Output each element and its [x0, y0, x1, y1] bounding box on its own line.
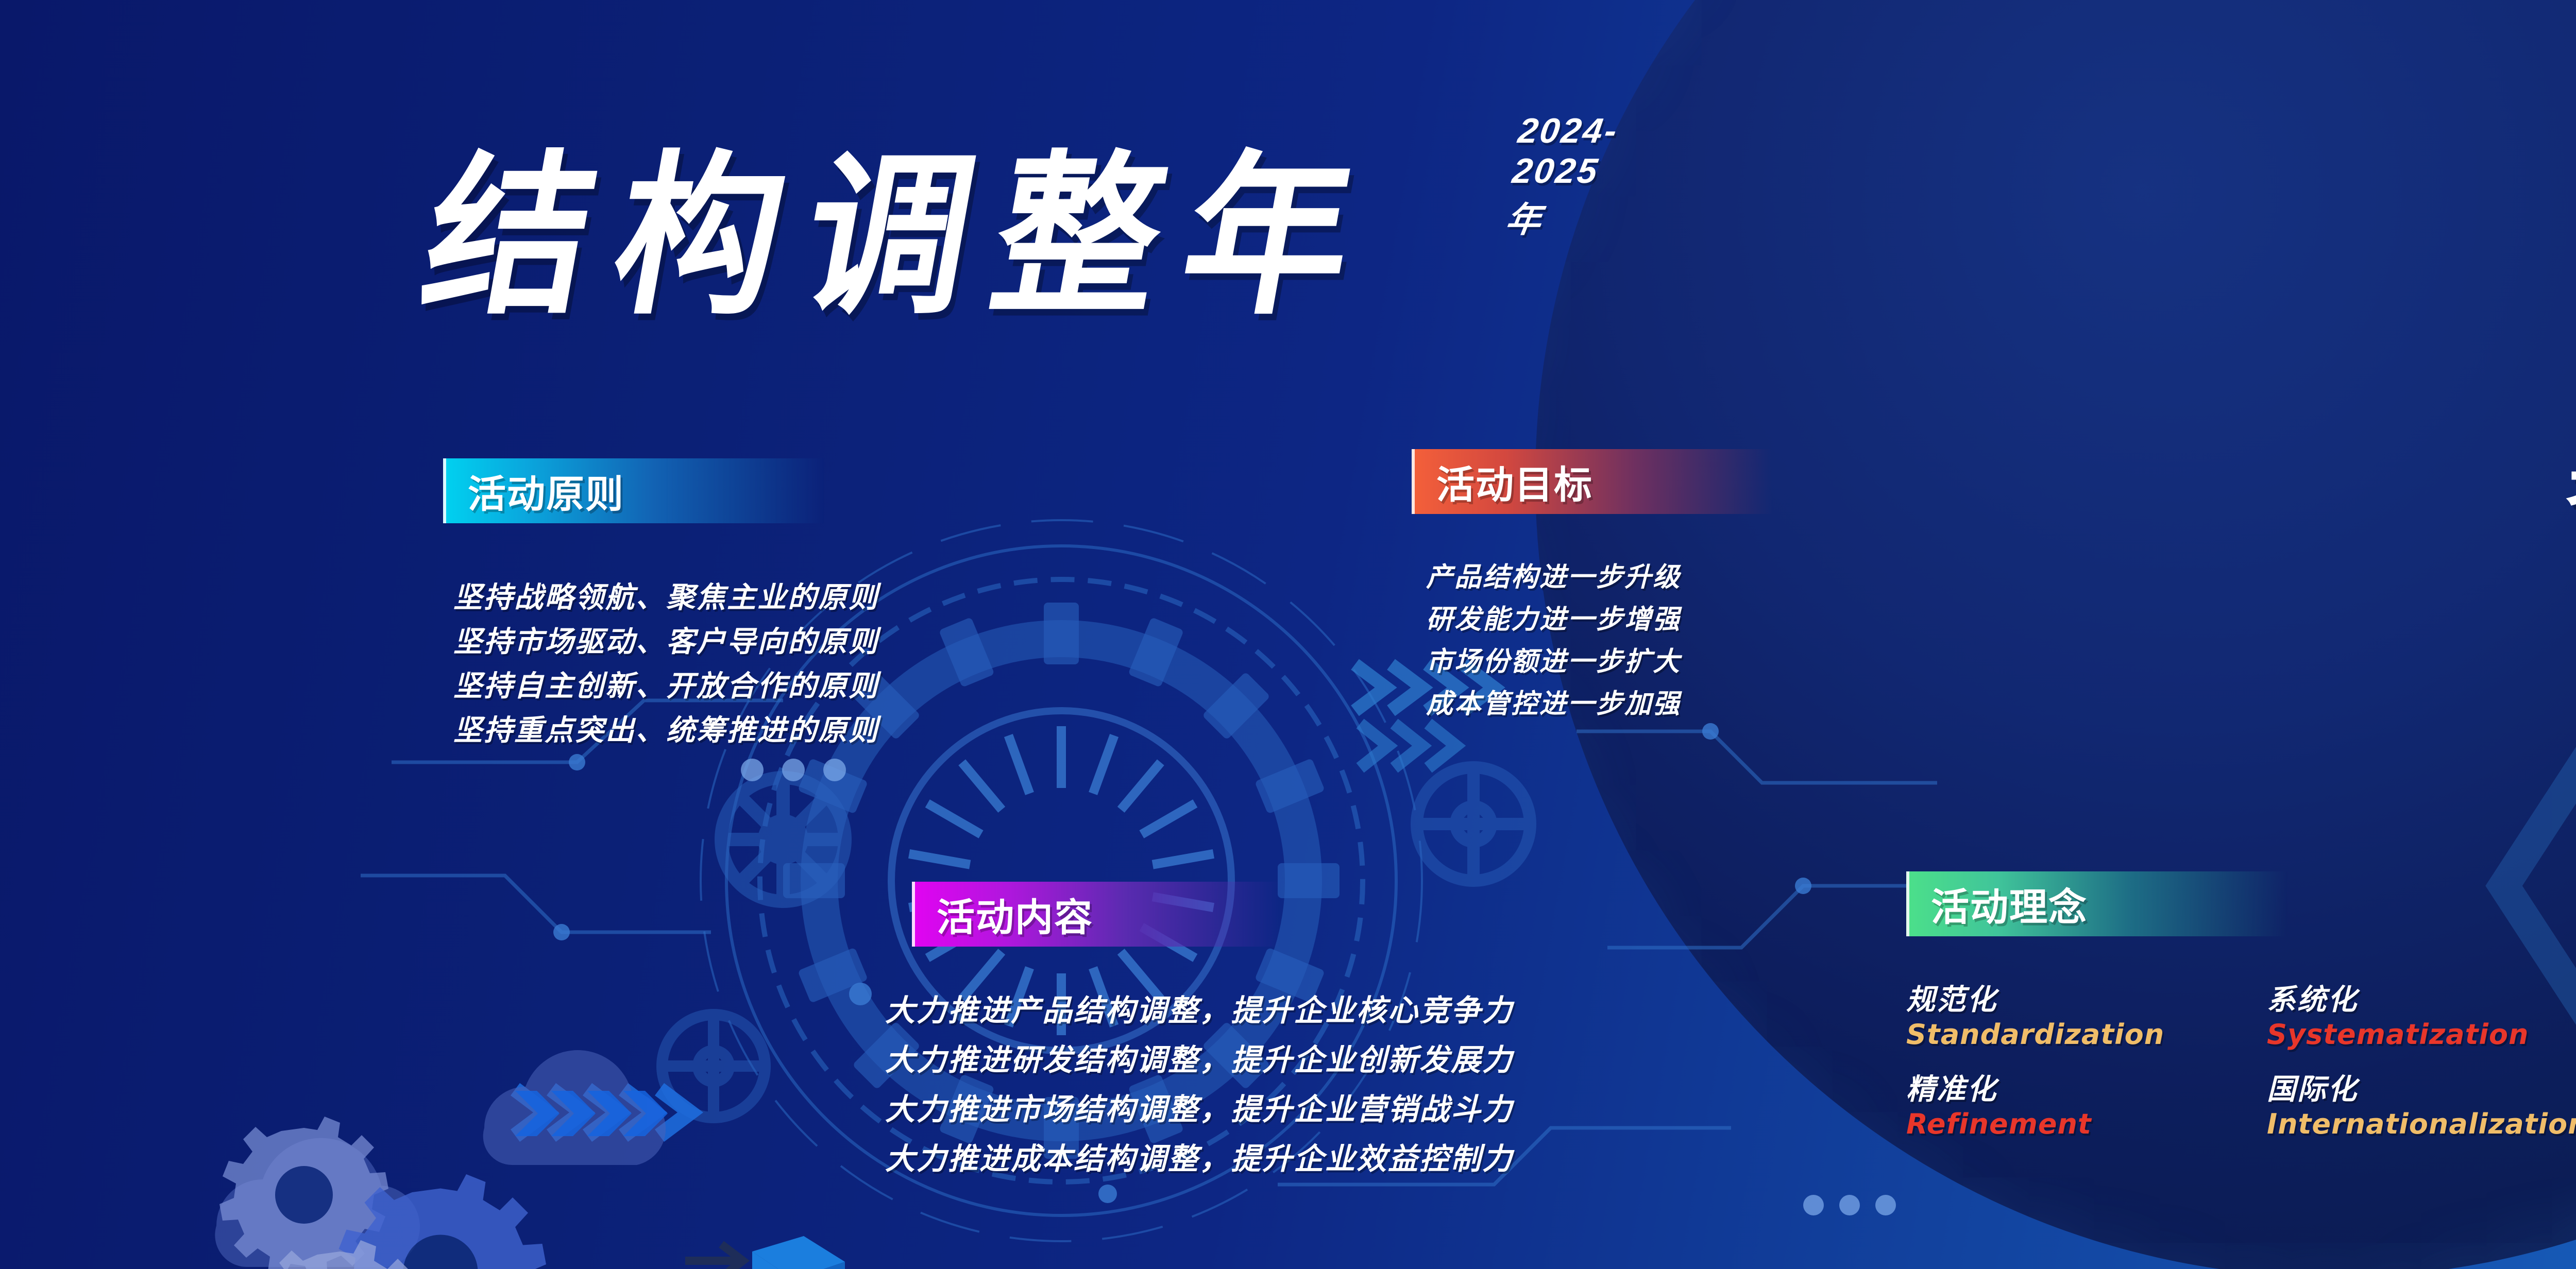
chevron-right-icon: [1360, 724, 1456, 768]
badge-label: 活动理念: [1931, 877, 2088, 932]
list-item: 大力推进成本结构调整，提升企业效益控制力: [885, 1134, 1514, 1184]
gear-icon: [256, 1240, 425, 1269]
idea-cn-label: 国际化: [2267, 1073, 2576, 1107]
idea-en-label: Systematization: [2267, 1017, 2576, 1052]
list-item: 坚持战略领航、聚焦主业的原则: [453, 576, 879, 620]
list-item: 市场份额进一步扩大: [1426, 641, 1681, 683]
cube-icon: [752, 1236, 845, 1269]
gear-icon: [662, 1015, 765, 1118]
list-item: 产品结构进一步升级: [1426, 556, 1681, 598]
slogan-line-2: 奋进高质量发展新征程: [2566, 435, 2576, 556]
idea-en-label: Refinement: [1906, 1107, 2267, 1142]
idea-item: 规范化 Standardization: [1906, 984, 2267, 1052]
badge-activity-idea: 活动理念: [1906, 871, 2287, 936]
idea-cn-label: 规范化: [1906, 984, 2267, 1017]
gear-icon: [721, 778, 845, 901]
gear-icon: [1417, 767, 1530, 881]
banner-root: 2024-2025年 结构调整年 活动原则 活动目标 活动内容 活动理念 坚持战…: [0, 0, 2576, 1269]
list-item: 大力推进市场结构调整，提升企业营销战斗力: [885, 1085, 1514, 1134]
idea-item: 系统化 Systematization: [2267, 984, 2576, 1052]
title-block: 2024-2025年 结构调整年: [428, 155, 1376, 319]
badge-label: 活动目标: [1436, 454, 1593, 509]
gear-icon: [335, 1174, 546, 1269]
idea-grid: 规范化 Standardization 系统化 Systematization …: [1906, 984, 2576, 1142]
chevron-right-icon: [515, 1089, 690, 1136]
list-item: 成本管控进一步加强: [1426, 683, 1681, 725]
idea-en-label: Standardization: [1906, 1017, 2267, 1052]
arrow-right-icon: [685, 1244, 743, 1269]
year-range: 2024-2025年: [1503, 111, 1621, 242]
gear-icon: [219, 1117, 388, 1269]
idea-item: 国际化 Internationalization: [2267, 1073, 2576, 1141]
idea-cn-label: 系统化: [2267, 984, 2576, 1017]
cloud-icon: [215, 1138, 420, 1267]
badge-label: 活动内容: [937, 887, 1093, 942]
idea-en-label: Internationalization: [2267, 1107, 2576, 1142]
list-item: 坚持自主创新、开放合作的原则: [453, 664, 879, 709]
badge-activity-goal: 活动目标: [1412, 449, 1772, 514]
badge-label: 活动原则: [468, 464, 624, 519]
goal-list: 产品结构进一步升级 研发能力进一步增强 市场份额进一步扩大 成本管控进一步加强: [1426, 556, 1681, 725]
list-item: 研发能力进一步增强: [1426, 598, 1681, 641]
badge-activity-content: 活动内容: [912, 882, 1280, 947]
idea-item: 精准化 Refinement: [1906, 1073, 2267, 1141]
list-item: 大力推进产品结构调整，提升企业核心竞争力: [885, 986, 1514, 1035]
list-item: 坚持市场驱动、客户导向的原则: [453, 620, 879, 664]
page-title: 结构调整年: [412, 149, 1391, 324]
badge-activity-principle: 活动原则: [443, 458, 824, 523]
list-item: 大力推进研发结构调整，提升企业创新发展力: [885, 1035, 1514, 1085]
idea-cn-label: 精准化: [1906, 1073, 2267, 1107]
chevron-right-icon: [515, 1091, 668, 1136]
list-item: 坚持重点突出、统筹推进的原则: [453, 709, 879, 753]
cloud-icon: [483, 1050, 666, 1165]
principle-list: 坚持战略领航、聚焦主业的原则 坚持市场驱动、客户导向的原则 坚持自主创新、开放合…: [453, 576, 879, 753]
content-list: 大力推进产品结构调整，提升企业核心竞争力 大力推进研发结构调整，提升企业创新发展…: [885, 986, 1514, 1184]
